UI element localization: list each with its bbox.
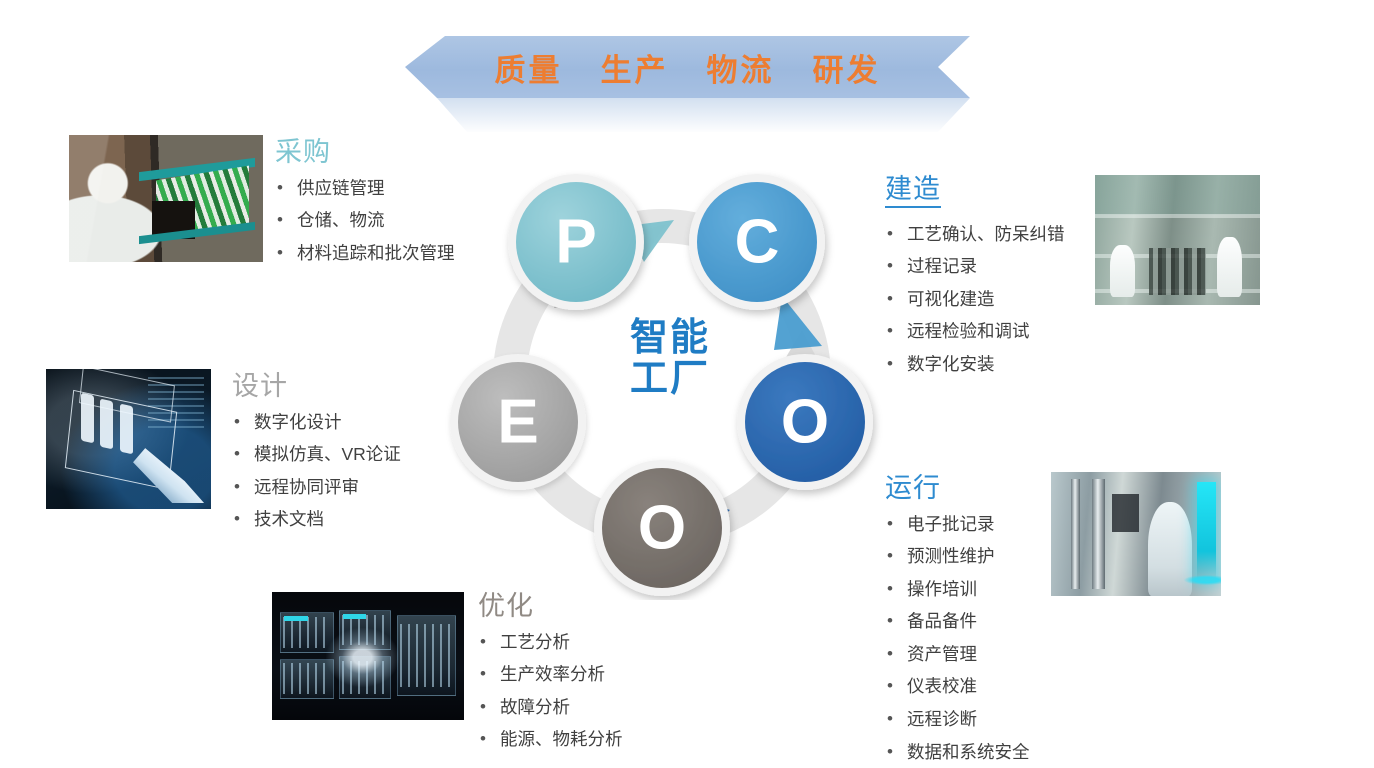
list-item: 操作培训 <box>885 573 1030 606</box>
list-item: 工艺确认、防呆纠错 <box>885 218 1065 251</box>
purchasing-bullet-list: 供应链管理 仓储、物流 材料追踪和批次管理 <box>275 172 455 270</box>
list-item: 工艺分析 <box>478 626 623 659</box>
list-item: 技术文档 <box>232 503 401 536</box>
optimize-title: 优化 <box>478 592 623 622</box>
list-item: 电子批记录 <box>885 508 1030 541</box>
optimize-bullet-list: 工艺分析 生产效率分析 故障分析 能源、物耗分析 <box>478 626 623 756</box>
list-item: 能源、物耗分析 <box>478 723 623 756</box>
cycle-node-letter-o-operate: O <box>781 388 829 457</box>
list-item: 远程诊断 <box>885 703 1030 736</box>
list-item: 过程记录 <box>885 250 1065 283</box>
design-title: 设计 <box>232 372 401 402</box>
list-item: 资产管理 <box>885 638 1030 671</box>
list-item: 可视化建造 <box>885 283 1065 316</box>
purchasing-photo <box>69 135 263 262</box>
cycle-node-letter-p: P <box>555 208 596 277</box>
list-item: 仓储、物流 <box>275 204 455 237</box>
slide-canvas: 质量 生产 物流 研发 <box>0 0 1374 765</box>
cycle-center-title: 智能 工厂 <box>595 318 745 400</box>
build-photo <box>1095 175 1260 305</box>
list-item: 材料追踪和批次管理 <box>275 237 455 270</box>
list-item: 数据和系统安全 <box>885 736 1030 768</box>
build-bullet-list: 工艺确认、防呆纠错 过程记录 可视化建造 远程检验和调试 数字化安装 <box>885 218 1065 381</box>
design-bullet-list: 数字化设计 模拟仿真、VR论证 远程协同评审 技术文档 <box>232 406 401 536</box>
list-item: 仪表校准 <box>885 670 1030 703</box>
list-item: 生产效率分析 <box>478 658 623 691</box>
list-item: 备品备件 <box>885 605 1030 638</box>
list-item: 数字化设计 <box>232 406 401 439</box>
banner-label-rnd: 研发 <box>809 45 885 90</box>
operate-photo <box>1051 472 1221 596</box>
design-section: 设计 数字化设计 模拟仿真、VR论证 远程协同评审 技术文档 <box>232 372 401 536</box>
list-item: 预测性维护 <box>885 540 1030 573</box>
build-title: 建造 <box>885 175 941 208</box>
top-banner: 质量 生产 物流 研发 <box>405 36 970 136</box>
cycle-node-letter-e: E <box>497 388 538 457</box>
banner-label-quality: 质量 <box>491 45 567 90</box>
purchasing-title: 采购 <box>275 138 455 168</box>
banner-label-production: 生产 <box>597 45 673 90</box>
banner-label-logistics: 物流 <box>703 45 779 90</box>
center-title-line-2: 工厂 <box>595 359 745 400</box>
banner-label-group: 质量 生产 物流 研发 <box>405 36 970 98</box>
build-section: 建造 工艺确认、防呆纠错 过程记录 可视化建造 远程检验和调试 数字化安装 <box>885 175 1065 380</box>
list-item: 模拟仿真、VR论证 <box>232 438 401 471</box>
design-photo <box>46 369 211 509</box>
list-item: 故障分析 <box>478 691 623 724</box>
banner-reflection <box>405 98 970 134</box>
list-item: 供应链管理 <box>275 172 455 205</box>
operate-bullet-list: 电子批记录 预测性维护 操作培训 备品备件 资产管理 仪表校准 远程诊断 数据和… <box>885 508 1030 768</box>
optimize-photo <box>272 592 464 720</box>
list-item: 远程检验和调试 <box>885 315 1065 348</box>
purchasing-section: 采购 供应链管理 仓储、物流 材料追踪和批次管理 <box>275 138 455 269</box>
operate-section: 运行 电子批记录 预测性维护 操作培训 备品备件 资产管理 仪表校准 远程诊断 … <box>885 474 1030 768</box>
center-title-line-1: 智能 <box>595 318 745 359</box>
cycle-node-letter-o-optimize: O <box>638 494 686 563</box>
list-item: 远程协同评审 <box>232 471 401 504</box>
optimize-section: 优化 工艺分析 生产效率分析 故障分析 能源、物耗分析 <box>478 592 623 756</box>
cycle-node-letter-c: C <box>735 208 780 277</box>
list-item: 数字化安装 <box>885 348 1065 381</box>
operate-title: 运行 <box>885 474 1030 504</box>
